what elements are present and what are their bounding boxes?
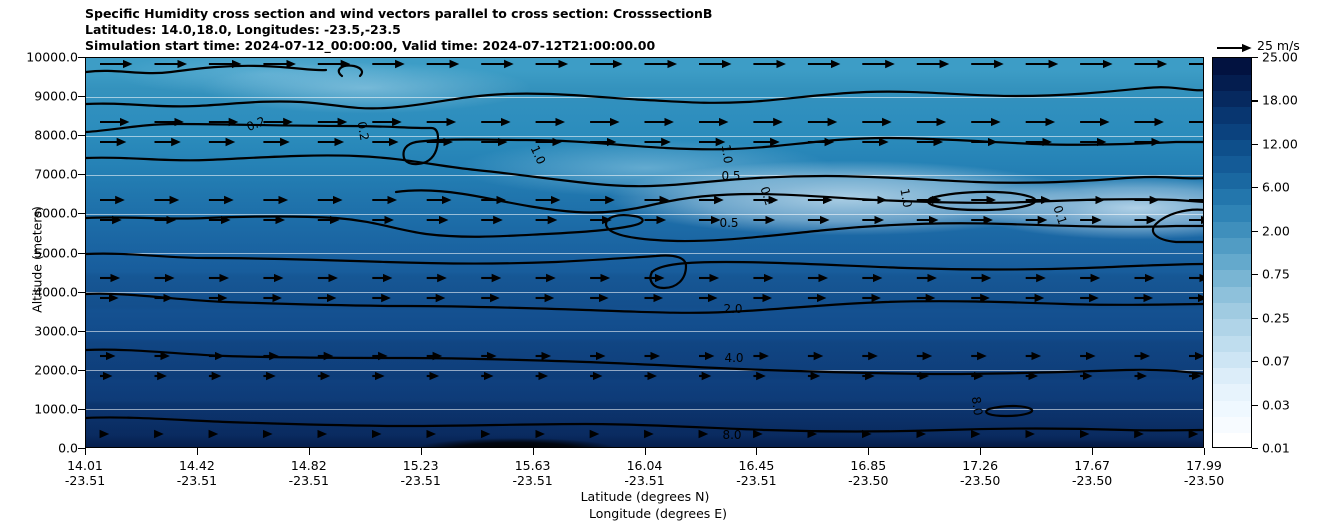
figure-canvas: Specific Humidity cross section and wind… [0, 0, 1326, 526]
x-tick-latitude: 16.45 [736, 458, 776, 473]
x-axis-tick-mark [309, 448, 310, 455]
x-axis-tick-mark [533, 448, 534, 455]
colorbar-segment [1213, 91, 1251, 108]
x-axis-tick-label: 14.82-23.51 [289, 458, 329, 488]
x-tick-latitude: 14.42 [177, 458, 217, 473]
x-axis-tick-mark [85, 448, 86, 455]
colorbar-segment [1213, 172, 1251, 189]
colorbar-tick-label: 12.00 [1262, 136, 1298, 151]
x-tick-longitude: -23.50 [848, 473, 888, 488]
x-tick-longitude: -23.50 [1184, 473, 1224, 488]
colorbar-tick-mark [1252, 361, 1258, 362]
colorbar-tick-label: 0.75 [1262, 267, 1290, 282]
x-axis-tick-label: 15.63-23.51 [512, 458, 552, 488]
colorbar-segment [1213, 368, 1251, 385]
colorbar-tick-mark [1252, 144, 1258, 145]
y-axis-tick-mark [78, 292, 85, 293]
x-tick-longitude: -23.50 [1072, 473, 1112, 488]
colorbar-tick-mark [1252, 57, 1258, 58]
y-axis-tick-mark [78, 213, 85, 214]
colorbar-segment [1213, 107, 1251, 124]
y-axis-tick-label: 1000.0 [34, 401, 78, 416]
y-axis-tick-mark [78, 135, 85, 136]
colorbar[interactable] [1212, 57, 1252, 448]
x-axis-tick-mark [756, 448, 757, 455]
colorbar-segment [1213, 302, 1251, 319]
x-axis-label-longitude: Longitude (degrees E) [0, 505, 1290, 522]
y-axis-tick-label: 8000.0 [34, 128, 78, 143]
x-axis-tick-label: 14.42-23.51 [177, 458, 217, 488]
x-axis-tick-mark [197, 448, 198, 455]
colorbar-tick-label: 0.03 [1262, 397, 1290, 412]
x-axis-label-block: Latitude (degrees N) Longitude (degrees … [0, 488, 1290, 522]
x-tick-longitude: -23.51 [401, 473, 441, 488]
colorbar-segment [1213, 221, 1251, 238]
y-axis-label: Altitude (meters) [30, 160, 45, 360]
x-axis-tick-mark [1204, 448, 1205, 455]
x-tick-latitude: 17.67 [1072, 458, 1112, 473]
x-axis-tick-label: 17.99-23.50 [1184, 458, 1224, 488]
x-tick-latitude: 16.04 [624, 458, 664, 473]
y-axis-tick-mark [78, 409, 85, 410]
colorbar-segment [1213, 433, 1251, 448]
x-axis-label-latitude: Latitude (degrees N) [0, 488, 1290, 505]
x-tick-longitude: -23.51 [177, 473, 217, 488]
wind-vectors [86, 58, 1204, 448]
y-axis-tick-label: 9000.0 [34, 89, 78, 104]
x-tick-latitude: 14.01 [65, 458, 105, 473]
colorbar-segment [1213, 335, 1251, 352]
x-axis-tick-label: 15.23-23.51 [401, 458, 441, 488]
x-axis-tick-label: 17.26-23.50 [960, 458, 1000, 488]
colorbar-segment [1213, 139, 1251, 156]
y-axis-tick-label: 0.0 [58, 441, 78, 456]
colorbar-segment [1213, 270, 1251, 287]
x-tick-latitude: 15.23 [401, 458, 441, 473]
colorbar-segment [1213, 237, 1251, 254]
colorbar-tick-mark [1252, 187, 1258, 188]
colorbar-segment [1213, 58, 1251, 75]
colorbar-segment [1213, 123, 1251, 140]
x-tick-longitude: -23.50 [960, 473, 1000, 488]
y-axis-tick-label: 10000.0 [26, 50, 78, 65]
x-tick-longitude: -23.51 [65, 473, 105, 488]
colorbar-tick-label: 0.07 [1262, 354, 1290, 369]
x-tick-latitude: 17.99 [1184, 458, 1224, 473]
x-axis-tick-mark [421, 448, 422, 455]
x-axis-tick-mark [868, 448, 869, 455]
x-tick-latitude: 15.63 [512, 458, 552, 473]
colorbar-segment [1213, 156, 1251, 173]
colorbar-tick-label: 25.00 [1262, 50, 1298, 65]
x-axis-tick-label: 14.01-23.51 [65, 458, 105, 488]
y-axis-tick-mark [78, 448, 85, 449]
x-tick-longitude: -23.51 [736, 473, 776, 488]
x-axis-tick-label: 16.45-23.51 [736, 458, 776, 488]
x-tick-longitude: -23.51 [289, 473, 329, 488]
colorbar-segment [1213, 188, 1251, 205]
colorbar-segment [1213, 286, 1251, 303]
cross-section-plot[interactable]: 0.20.21.01.00.50.21.00.10.52.04.08.08.01… [85, 57, 1204, 448]
y-axis-tick-mark [78, 331, 85, 332]
colorbar-segment [1213, 74, 1251, 91]
colorbar-segment [1213, 416, 1251, 433]
x-tick-longitude: -23.51 [624, 473, 664, 488]
x-axis-tick-mark [1092, 448, 1093, 455]
x-axis-tick-label: 16.85-23.50 [848, 458, 888, 488]
colorbar-tick-mark [1252, 448, 1258, 449]
colorbar-tick-mark [1252, 231, 1258, 232]
colorbar-tick-label: 2.00 [1262, 223, 1290, 238]
title-line-1: Specific Humidity cross section and wind… [85, 6, 712, 22]
x-axis-tick-label: 16.04-23.51 [624, 458, 664, 488]
y-axis-tick-label: 2000.0 [34, 362, 78, 377]
colorbar-tick-label: 6.00 [1262, 180, 1290, 195]
colorbar-tick-label: 0.01 [1262, 441, 1290, 456]
figure-title: Specific Humidity cross section and wind… [85, 6, 712, 55]
x-axis-tick-mark [645, 448, 646, 455]
colorbar-tick-mark [1252, 405, 1258, 406]
x-tick-latitude: 14.82 [289, 458, 329, 473]
colorbar-segment [1213, 351, 1251, 368]
y-axis-tick-mark [78, 370, 85, 371]
colorbar-tick-label: 0.25 [1262, 310, 1290, 325]
colorbar-segment [1213, 384, 1251, 401]
colorbar-segment [1213, 319, 1251, 336]
x-axis-tick-label: 17.67-23.50 [1072, 458, 1112, 488]
y-axis-tick-mark [78, 57, 85, 58]
x-axis-tick-mark [980, 448, 981, 455]
colorbar-tick-label: 18.00 [1262, 93, 1298, 108]
y-axis-tick-mark [78, 174, 85, 175]
colorbar-segment [1213, 254, 1251, 271]
colorbar-segment [1213, 205, 1251, 222]
title-line-3: Simulation start time: 2024-07-12_00:00:… [85, 38, 712, 54]
colorbar-tick-mark [1252, 318, 1258, 319]
title-line-2: Latitudes: 14.0,18.0, Longitudes: -23.5,… [85, 22, 712, 38]
colorbar-tick-mark [1252, 274, 1258, 275]
colorbar-tick-mark [1252, 100, 1258, 101]
colorbar-segment [1213, 400, 1251, 417]
x-tick-latitude: 17.26 [960, 458, 1000, 473]
y-axis-tick-mark [78, 96, 85, 97]
x-tick-longitude: -23.51 [512, 473, 552, 488]
x-tick-latitude: 16.85 [848, 458, 888, 473]
y-axis-tick-mark [78, 253, 85, 254]
